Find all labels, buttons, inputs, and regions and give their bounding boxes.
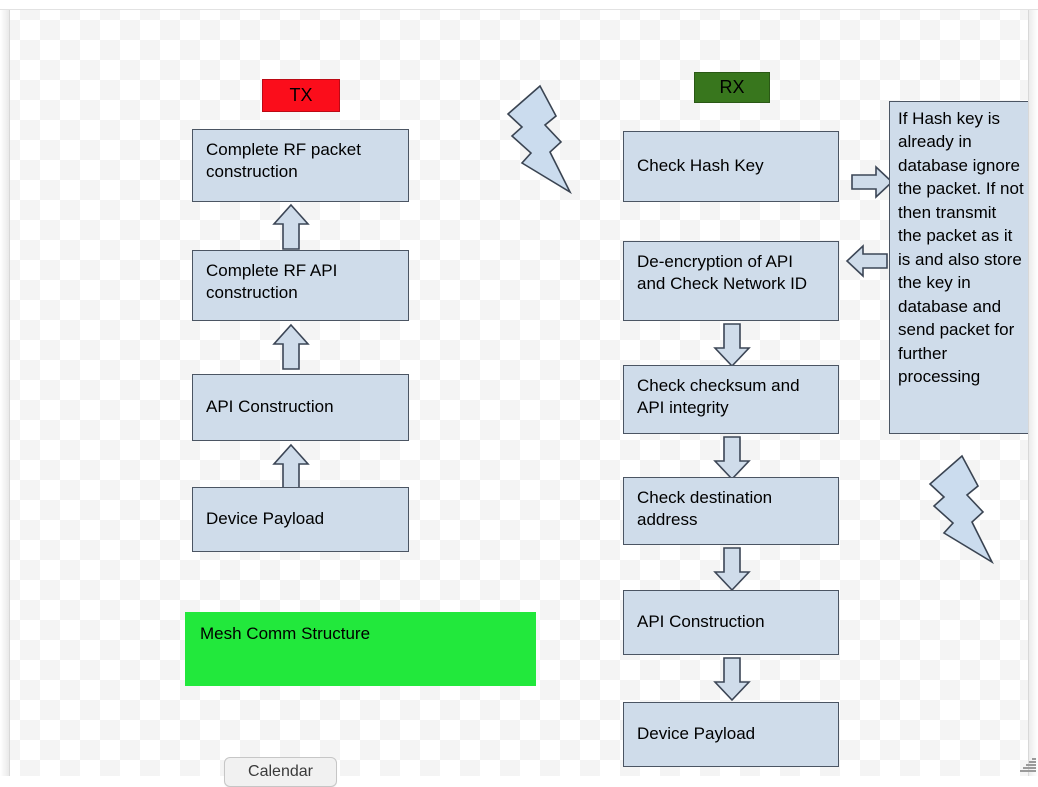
note-arrow-right [850,164,894,200]
tx-badge[interactable]: TX [262,79,340,112]
rx-node-label-1: Check Hash Key [637,155,764,177]
tx-node-label-1: Complete RF packet construction [206,139,395,183]
rx-node-label-6: Device Payload [637,723,755,745]
rx-arrow-down-3 [712,547,752,592]
tx-node-complete-rf-packet-construction[interactable]: Complete RF packet construction [192,129,409,202]
rx-node-check-checksum[interactable]: Check checksum and API integrity [623,365,839,434]
hash-key-note-label: If Hash key is already in database ignor… [898,107,1024,388]
rx-arrow-down-2 [712,436,752,481]
rx-node-label-2: De-encryption of API and Check Network I… [637,251,825,295]
tx-node-label-2: Complete RF API construction [206,260,395,304]
tx-node-api-construction[interactable]: API Construction [192,374,409,441]
rx-node-api-construction[interactable]: API Construction [623,590,839,655]
tx-arrow-up-2 [271,323,311,371]
window-top-edge [0,0,1038,10]
window-left-edge [0,0,10,776]
rx-node-label-3: Check checksum and API integrity [637,375,825,419]
tx-node-label-4: Device Payload [206,508,324,530]
calendar-button[interactable]: Calendar [224,757,337,787]
mesh-comm-structure-bar[interactable]: Mesh Comm Structure [185,612,536,686]
rx-node-label-4: Check destination address [637,487,825,531]
rx-node-check-destination-address[interactable]: Check destination address [623,477,839,545]
resize-handle[interactable] [1018,756,1036,774]
diagram-canvas: TX Complete RF packet construction Compl… [0,0,1038,776]
tx-arrow-up-1 [271,203,311,251]
note-arrow-left [845,243,889,279]
rx-arrow-down-1 [712,323,752,368]
rx-node-label-5: API Construction [637,611,765,633]
tx-node-device-payload[interactable]: Device Payload [192,487,409,552]
mesh-comm-structure-label: Mesh Comm Structure [200,624,370,644]
lightning-bolt-bottom [906,450,1022,566]
rx-node-check-hash-key[interactable]: Check Hash Key [623,131,839,202]
rx-node-de-encryption-of-api[interactable]: De-encryption of API and Check Network I… [623,241,839,321]
lightning-bolt-top [484,80,600,196]
hash-key-note-block[interactable]: If Hash key is already in database ignor… [889,101,1033,434]
rx-badge[interactable]: RX [694,72,770,103]
tx-node-complete-rf-api-construction[interactable]: Complete RF API construction [192,250,409,321]
rx-arrow-down-4 [712,657,752,702]
tx-node-label-3: API Construction [206,396,334,418]
rx-node-device-payload[interactable]: Device Payload [623,702,839,767]
tx-arrow-up-3 [271,443,311,491]
